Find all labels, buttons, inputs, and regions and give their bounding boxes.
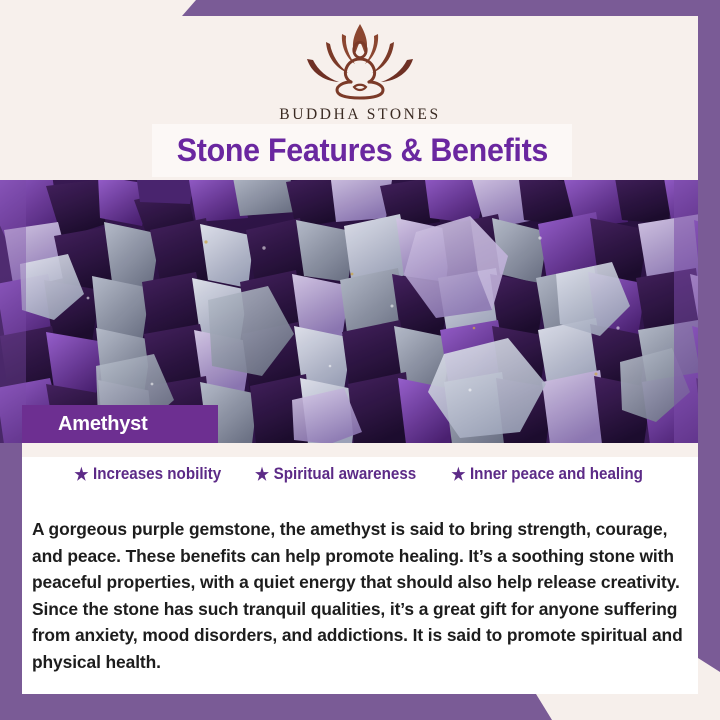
frame-bottom-band [0, 694, 720, 720]
content-top-strip [22, 443, 698, 457]
stone-description: A gorgeous purple gemstone, the amethyst… [32, 516, 692, 675]
page-title-box: Stone Features & Benefits [152, 124, 572, 177]
lotus-meditation-icon [285, 18, 435, 102]
star-icon: ★ [452, 466, 466, 483]
benefit-label: Increases nobility [93, 465, 221, 484]
brand-logo: BUDDHA STONES [0, 18, 720, 124]
stone-name: Amethyst [22, 413, 148, 436]
stone-name-banner: Amethyst [22, 405, 218, 443]
stone-features-infographic: BUDDHA STONES [0, 0, 720, 720]
star-icon: ★ [75, 466, 89, 483]
frame-left-band [0, 443, 22, 703]
content-panel: ★ Increases nobility ★ Spiritual awarene… [22, 443, 698, 694]
benefit-label: Spiritual awareness [274, 465, 417, 484]
benefit-item: ★ Spiritual awareness [255, 465, 416, 484]
brand-name: BUDDHA STONES [0, 106, 720, 124]
benefits-list: ★ Increases nobility ★ Spiritual awarene… [22, 465, 698, 484]
frame-right-band [698, 0, 720, 672]
page-title: Stone Features & Benefits [176, 132, 547, 169]
benefit-item: ★ Increases nobility [75, 465, 222, 484]
benefit-label: Inner peace and healing [470, 465, 643, 484]
star-icon: ★ [255, 466, 269, 483]
benefit-item: ★ Inner peace and healing [452, 465, 644, 484]
